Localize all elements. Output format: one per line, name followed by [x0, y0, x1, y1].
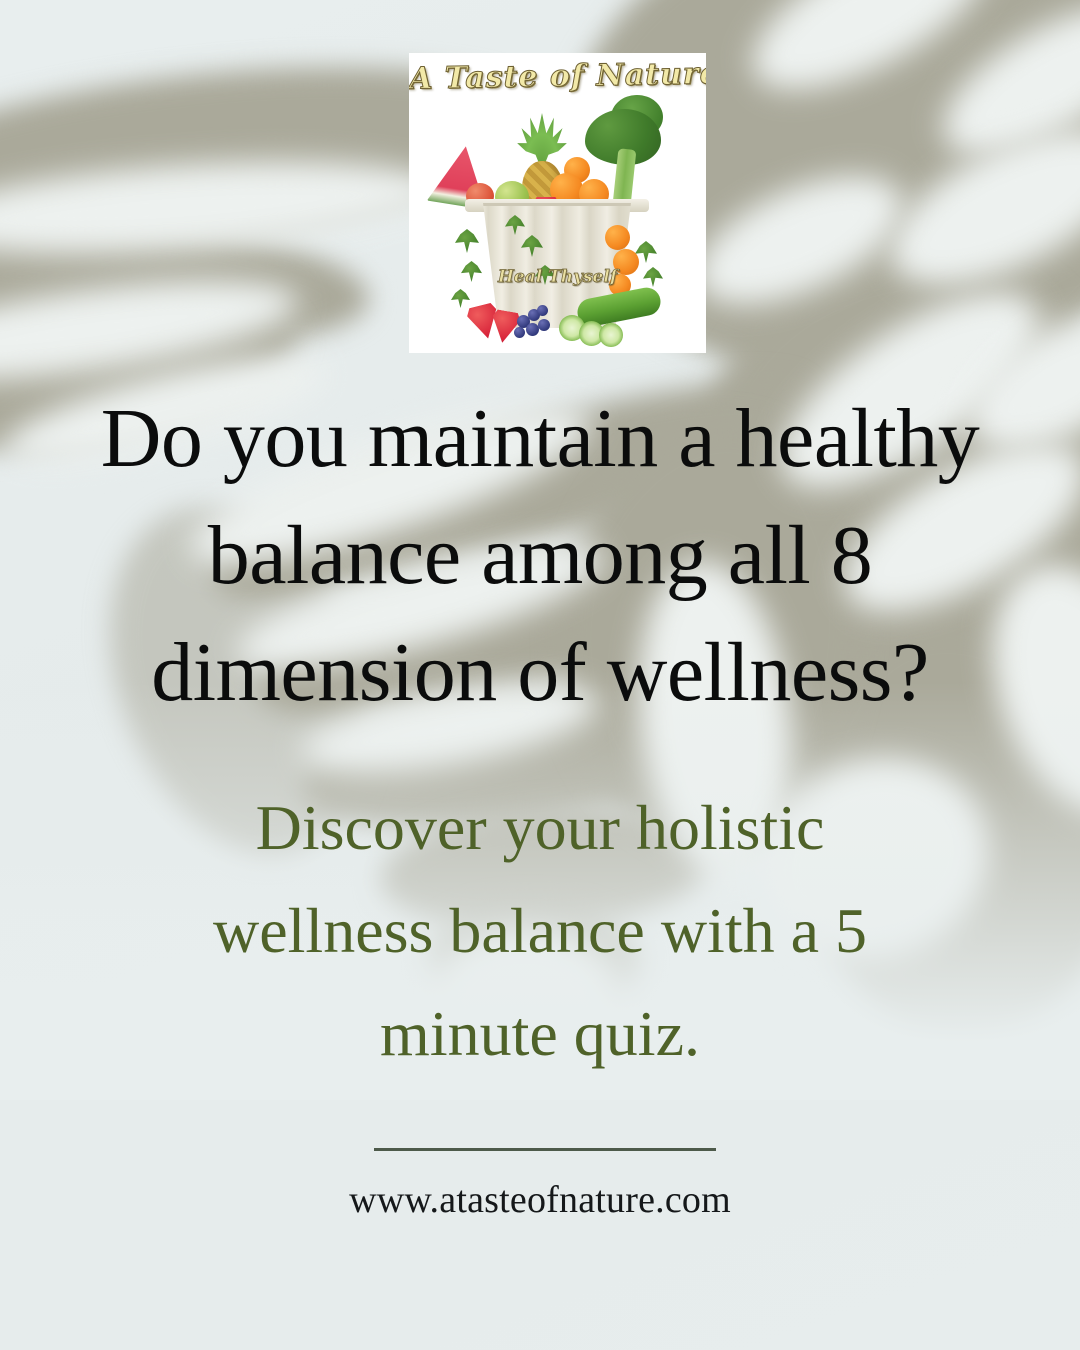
website-url[interactable]: www.atasteofnature.com	[0, 1178, 1080, 1222]
ivy-leaf-icon	[451, 289, 470, 308]
subheadline: Discover your holistic wellness balance …	[0, 776, 1080, 1085]
headline: Do you maintain a healthy balance among …	[0, 380, 1080, 731]
divider-rule	[374, 1148, 716, 1151]
headline-line: Do you maintain a healthy	[0, 380, 1080, 497]
logo-brand-script: A Taste of Nature	[409, 56, 706, 96]
brand-logo: A Taste of Nature Heal Thyself	[409, 53, 706, 353]
wellness-quiz-poster: A Taste of Nature Heal Thyself	[0, 0, 1080, 1350]
orange-icon	[605, 225, 630, 250]
subheadline-line: wellness balance with a 5	[0, 879, 1080, 982]
subheadline-line: Discover your holistic	[0, 776, 1080, 879]
headline-line: dimension of wellness?	[0, 614, 1080, 731]
blueberry-icon	[537, 305, 548, 316]
logo-tagline-script: Heal Thyself	[409, 267, 706, 287]
cucumber-slice-icon	[599, 323, 623, 347]
blueberry-icon	[514, 327, 525, 338]
ivy-leaf-icon	[455, 229, 479, 253]
headline-line: balance among all 8	[0, 497, 1080, 614]
blueberry-icon	[538, 319, 550, 331]
subheadline-line: minute quiz.	[0, 982, 1080, 1085]
